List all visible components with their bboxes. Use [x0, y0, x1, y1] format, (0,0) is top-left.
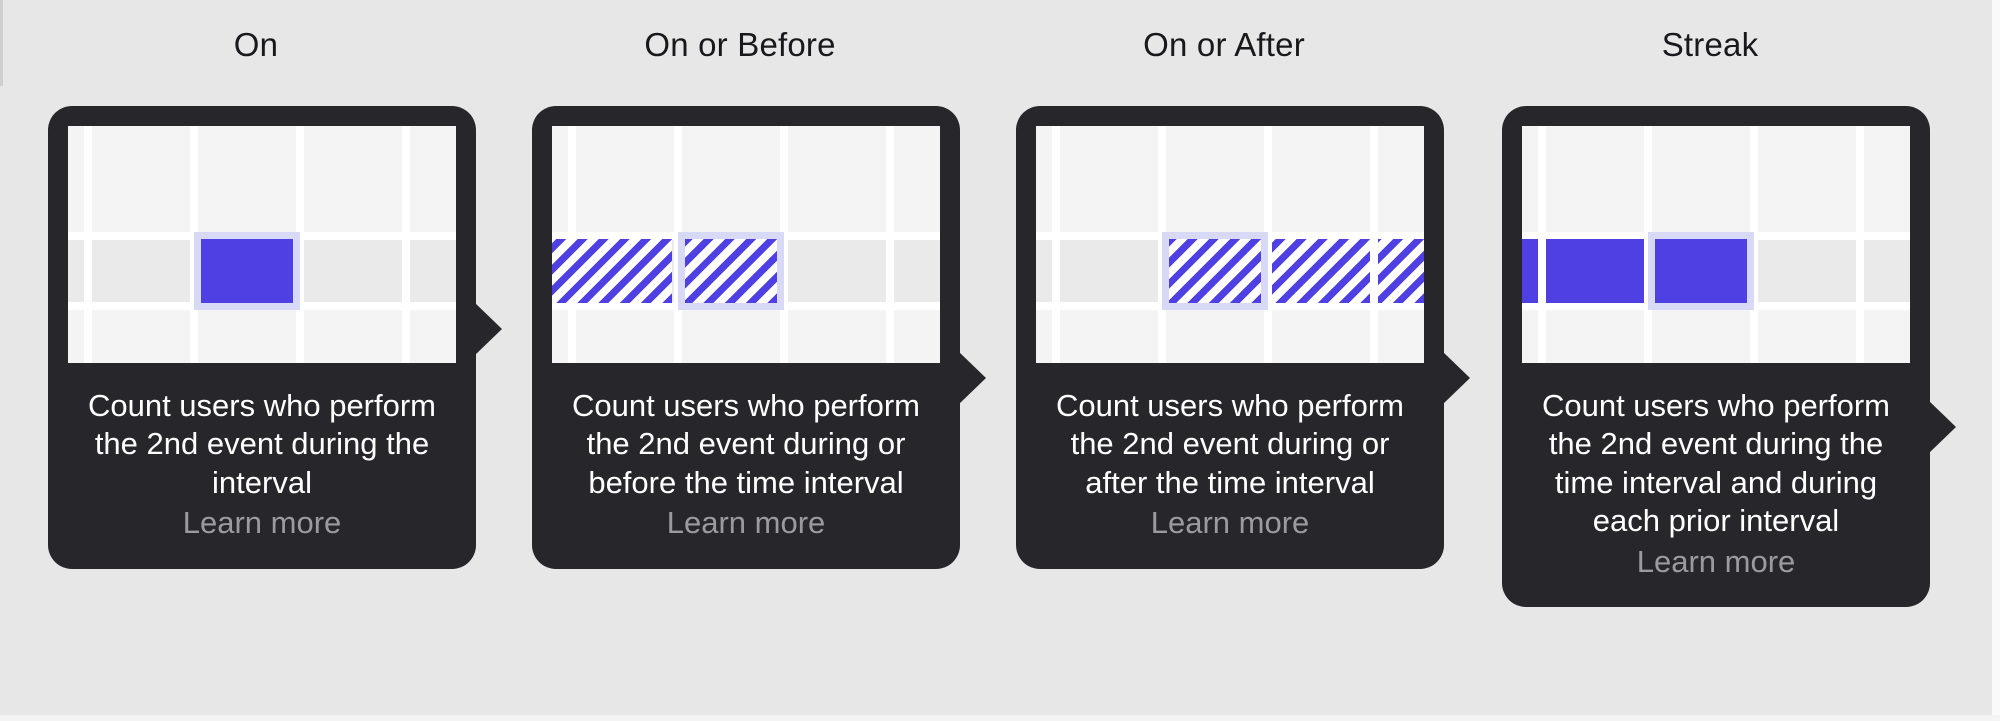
column-title-streak: Streak	[1490, 28, 1930, 61]
grid-cell	[1522, 126, 1538, 232]
column-title-on-or-after: On or After	[1004, 28, 1444, 61]
column-title-on-or-before: On or Before	[520, 28, 960, 61]
card-description-on: Count users who perform the 2nd event du…	[68, 387, 456, 502]
learn-more-link-on[interactable]: Learn more	[68, 504, 456, 542]
event-bar-hatched-after	[1272, 239, 1370, 303]
grid-cell	[1166, 126, 1264, 232]
card-pointer-icon	[1442, 351, 1470, 405]
grid-cell	[552, 310, 568, 363]
learn-more-link-on-or-before[interactable]: Learn more	[552, 504, 940, 542]
grid-cell	[894, 310, 940, 363]
grid-cell	[68, 310, 84, 363]
thumbnail-on-or-before	[552, 126, 940, 363]
event-bar-solid-prior	[1546, 239, 1644, 303]
grid-cell	[1864, 126, 1910, 232]
card-pointer-icon	[958, 351, 986, 405]
comparison-board: On	[0, 0, 2000, 721]
thumbnail-streak	[1522, 126, 1910, 363]
grid-cell	[304, 240, 402, 302]
grid-cell	[92, 240, 190, 302]
grid-cell	[894, 126, 940, 232]
grid-cell	[1652, 126, 1750, 232]
card-on[interactable]: Count users who perform the 2nd event du…	[48, 106, 476, 569]
grid-cell	[788, 240, 886, 302]
card-pointer-icon	[1928, 400, 1956, 454]
grid-cell	[410, 126, 456, 232]
card-streak[interactable]: Count users who perform the 2nd event du…	[1502, 106, 1930, 607]
card-on-or-before[interactable]: Count users who perform the 2nd event du…	[532, 106, 960, 569]
grid-cell	[1546, 126, 1644, 232]
grid-cell	[1864, 310, 1910, 363]
grid-cell	[92, 310, 190, 363]
grid-cell	[1272, 126, 1370, 232]
card-pointer-icon	[474, 302, 502, 356]
event-bar-hatched	[685, 239, 777, 303]
grid-cell	[198, 310, 296, 363]
grid-cell	[1036, 310, 1052, 363]
card-on-or-after[interactable]: Count users who perform the 2nd event du…	[1016, 106, 1444, 569]
event-bar-hatched	[1169, 239, 1261, 303]
grid-cell	[1272, 310, 1370, 363]
grid-cell	[576, 126, 674, 232]
event-bar-hatched-before	[552, 239, 672, 303]
grid-cell	[1060, 126, 1158, 232]
card-description-on-or-before: Count users who perform the 2nd event du…	[552, 387, 940, 502]
grid-cell	[1378, 310, 1424, 363]
grid-cell	[1652, 310, 1750, 363]
grid-cell	[410, 240, 456, 302]
grid-cell	[1758, 310, 1856, 363]
grid-cell	[576, 310, 674, 363]
grid-cell	[788, 126, 886, 232]
grid-cell	[92, 126, 190, 232]
learn-more-link-on-or-after[interactable]: Learn more	[1036, 504, 1424, 542]
event-bar-solid-prior	[1522, 239, 1538, 303]
grid-cell	[304, 310, 402, 363]
event-bar-solid	[1655, 239, 1747, 303]
grid-cell	[682, 126, 780, 232]
grid-cell	[682, 310, 780, 363]
grid-cell	[410, 310, 456, 363]
grid-cell	[1864, 240, 1910, 302]
event-bar-solid	[201, 239, 293, 303]
grid-cell	[1378, 126, 1424, 232]
grid-cell	[1758, 240, 1856, 302]
learn-more-link-streak[interactable]: Learn more	[1522, 543, 1910, 581]
grid-cell	[1060, 240, 1158, 302]
grid-cell	[198, 126, 296, 232]
card-description-streak: Count users who perform the 2nd event du…	[1522, 387, 1910, 541]
card-description-on-or-after: Count users who perform the 2nd event du…	[1036, 387, 1424, 502]
thumbnail-on	[68, 126, 456, 363]
grid-cell	[894, 240, 940, 302]
grid-cell	[1036, 240, 1052, 302]
grid-cell	[1166, 310, 1264, 363]
event-bar-hatched-after	[1378, 239, 1424, 303]
grid-cell	[1758, 126, 1856, 232]
grid-cell	[1546, 310, 1644, 363]
grid-cell	[1522, 310, 1538, 363]
grid-cell	[304, 126, 402, 232]
grid-cell	[1036, 126, 1052, 232]
grid-cell	[788, 310, 886, 363]
grid-cell	[68, 240, 84, 302]
grid-cell	[1060, 310, 1158, 363]
grid-cell	[552, 126, 568, 232]
thumbnail-on-or-after	[1036, 126, 1424, 363]
column-title-on: On	[36, 28, 476, 61]
grid-cell	[68, 126, 84, 232]
